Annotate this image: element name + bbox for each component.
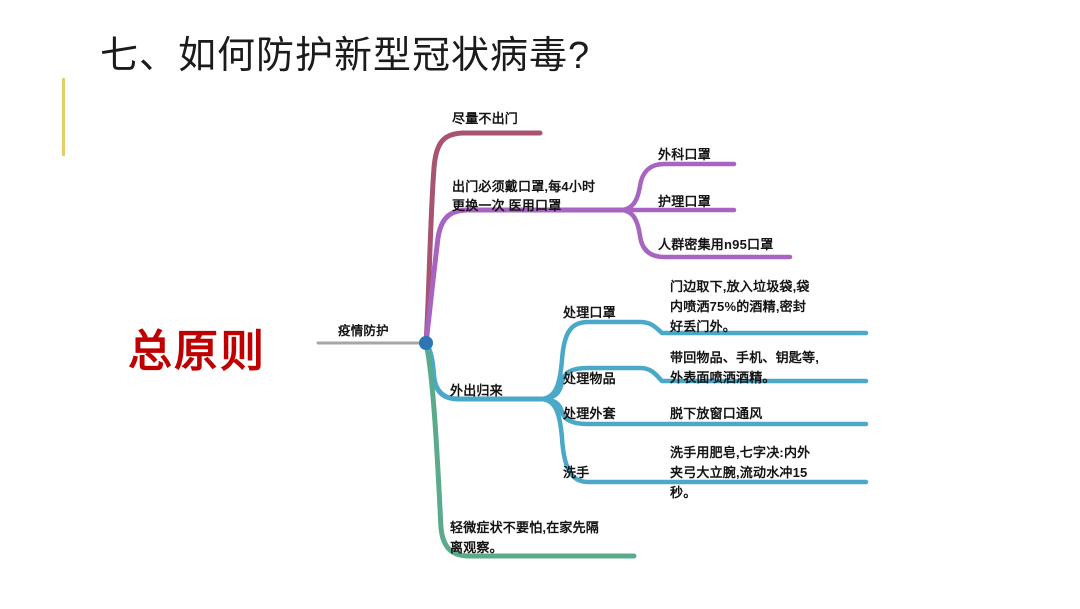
node-label-handle-mask: 处理口罩 <box>563 303 616 322</box>
node-label-center: 疫情防护 <box>338 322 389 341</box>
node-detail-handle-coat: 脱下放窗口通风 <box>670 404 762 424</box>
node-label-handle-coat: 处理外套 <box>563 404 616 423</box>
node-label-mild-symptoms: 轻微症状不要怕,在家先隔 离观察。 <box>450 518 599 558</box>
node-label-nursing-mask: 护理口罩 <box>658 192 711 211</box>
node-label-return-home: 外出归来 <box>450 381 503 400</box>
slide-canvas: 七、如何防护新型冠状病毒? 总原则 疫情防护 尽量不出门 出门必须戴口罩,每4小… <box>0 0 1080 609</box>
node-label-surgical-mask: 外科口罩 <box>658 145 711 164</box>
node-detail-wash-hands: 洗手用肥皂,七字决:内外 夹弓大立腕,流动水冲15 秒。 <box>670 443 810 503</box>
node-label-wash-hands: 洗手 <box>563 463 589 482</box>
node-label-n95-mask: 人群密集用n95口罩 <box>658 235 773 254</box>
node-label-handle-items: 处理物品 <box>563 369 616 388</box>
node-detail-handle-mask: 门边取下,放入垃圾袋,袋 内喷洒75%的酒精,密封 好丢门外。 <box>670 277 810 337</box>
node-detail-handle-items: 带回物品、手机、钥匙等, 外表面喷洒酒精。 <box>670 348 819 388</box>
node-label-wear-mask: 出门必须戴口罩,每4小时 更换一次 医用口罩 <box>452 177 595 215</box>
node-label-stay-home: 尽量不出门 <box>452 109 518 128</box>
